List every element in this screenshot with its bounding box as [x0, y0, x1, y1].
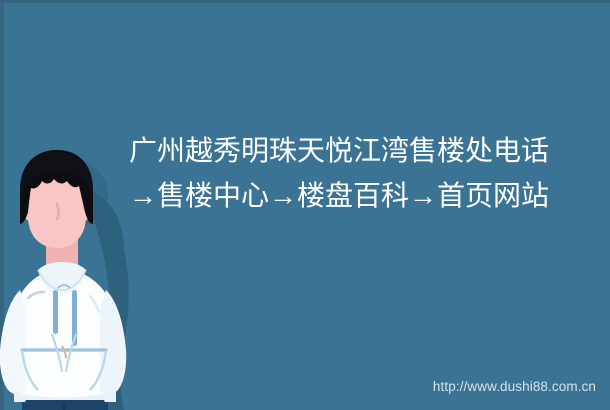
- site-url-watermark: http://www.dushi88.com.cn: [433, 379, 596, 394]
- promo-banner: 广州越秀明珠天悦江湾售楼处电话 →售楼中心→楼盘百科→首页网站 http://w…: [0, 0, 610, 410]
- top-edge-divider: [0, 0, 610, 3]
- headline-line-1: 广州越秀明珠天悦江湾售楼处电话: [88, 128, 590, 173]
- headline-line-2: →售楼中心→楼盘百科→首页网站: [88, 173, 590, 218]
- headline-text: 广州越秀明珠天悦江湾售楼处电话 →售楼中心→楼盘百科→首页网站: [88, 128, 590, 218]
